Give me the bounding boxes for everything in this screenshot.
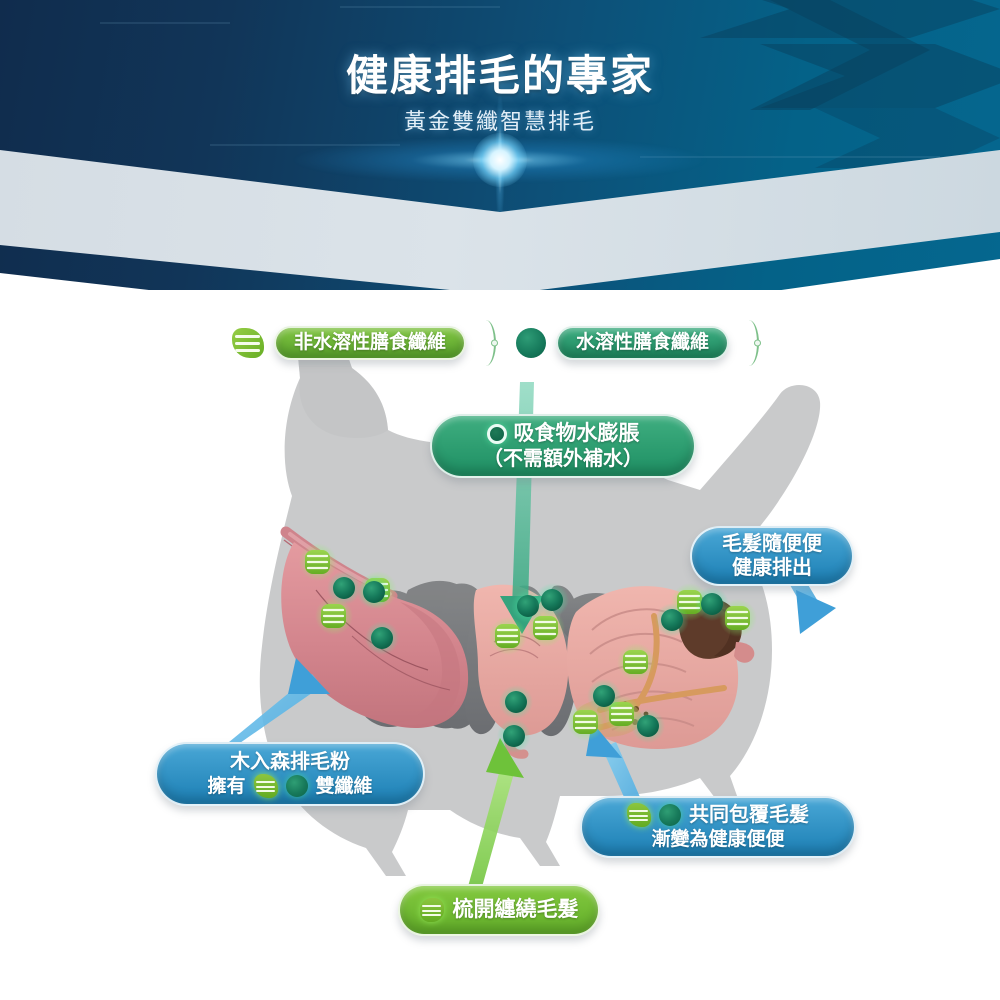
page-subtitle: 黃金雙纖智慧排毛: [0, 104, 1000, 136]
callout-coat-line2: 漸變為健康便便: [651, 828, 784, 851]
soluble-fiber-marker: [631, 709, 665, 743]
legend-item-soluble[interactable]: 水溶性膳食纖維: [516, 320, 759, 366]
soluble-fiber-icon: [516, 328, 546, 358]
soluble-fiber-marker: [535, 583, 569, 617]
callout-excrete[interactable]: 毛髮隨便便 健康排出: [690, 526, 854, 586]
insoluble-fiber-icon: [254, 774, 278, 798]
soluble-fiber-marker: [357, 575, 391, 609]
legend-pill-soluble[interactable]: 水溶性膳食纖維: [556, 326, 729, 360]
soluble-fiber-marker: [497, 719, 531, 753]
infographic-poster: 健康排毛的專家 黃金雙纖智慧排毛: [0, 0, 1000, 1000]
legend: 非水溶性膳食纖維 水溶性膳食纖維: [0, 318, 1000, 370]
insoluble-fiber-marker: [299, 543, 337, 581]
callout-comb-line1: 梳開纏繞毛髮: [453, 897, 579, 923]
soluble-fiber-marker: [327, 571, 361, 605]
legend-label-insoluble: 非水溶性膳食纖維: [294, 331, 446, 354]
callout-excrete-line1: 毛髮隨便便: [722, 532, 822, 556]
soluble-fiber-marker: [499, 685, 533, 719]
soluble-fiber-marker: [695, 587, 729, 621]
soluble-fiber-marker: [365, 621, 399, 655]
accent-line-2: [340, 6, 500, 8]
callout-swell[interactable]: 吸食物水膨脹 （不需額外補水）: [430, 414, 696, 478]
callout-comb[interactable]: 梳開纏繞毛髮: [398, 884, 600, 936]
insoluble-fiber-icon: [627, 803, 651, 827]
accent-line-1: [100, 22, 230, 24]
callout-coat[interactable]: 共同包覆毛髮 漸變為健康便便: [580, 796, 856, 858]
insoluble-fiber-marker: [617, 643, 655, 681]
callout-coat-line1: 共同包覆毛髮: [689, 803, 809, 827]
legend-arc-insoluble: [476, 320, 496, 366]
insoluble-fiber-icon: [420, 898, 444, 922]
lens-flare-core: [473, 133, 527, 187]
legend-pill-insoluble[interactable]: 非水溶性膳食纖維: [274, 326, 466, 360]
legend-item-insoluble[interactable]: 非水溶性膳食纖維: [232, 320, 496, 366]
soluble-fiber-icon: [286, 775, 308, 797]
legend-label-soluble: 水溶性膳食纖維: [576, 331, 709, 354]
callout-swell-line2: （不需額外補水）: [483, 447, 643, 471]
callout-product-line2-pre: 擁有: [207, 775, 245, 798]
callout-product[interactable]: 木入森排毛粉 擁有 雙纖維: [155, 742, 425, 806]
page-title: 健康排毛的專家: [0, 42, 1000, 103]
soluble-fiber-ring-icon: [487, 424, 507, 444]
callout-excrete-line2: 健康排出: [732, 556, 812, 580]
soluble-fiber-icon: [659, 804, 681, 826]
insoluble-fiber-marker: [489, 617, 527, 655]
insoluble-fiber-icon: [232, 328, 264, 358]
soluble-fiber-marker: [587, 679, 621, 713]
callout-product-line1: 木入森排毛粉: [230, 750, 350, 774]
callout-swell-line1: 吸食物水膨脹: [514, 421, 640, 447]
soluble-fiber-marker: [655, 603, 689, 637]
legend-arc-soluble: [739, 320, 759, 366]
callout-product-line2-post: 雙纖維: [316, 775, 373, 798]
